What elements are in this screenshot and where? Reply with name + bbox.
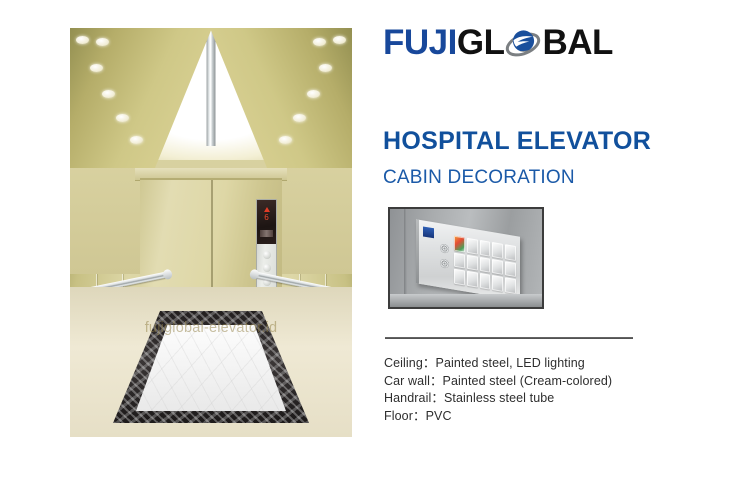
floor-button bbox=[505, 278, 516, 294]
downlight-icon bbox=[319, 64, 332, 72]
downlight-icon bbox=[307, 90, 320, 98]
floor-button bbox=[467, 254, 478, 270]
floor-indicator: 6 bbox=[257, 213, 276, 222]
spec-line-car-wall: Car wall：Painted steel (Cream-colored) bbox=[384, 373, 684, 391]
company-logo: FUJI GL BAL bbox=[383, 22, 613, 62]
floor-button bbox=[467, 271, 478, 287]
up-arrow-icon bbox=[264, 207, 270, 212]
floor-button bbox=[505, 244, 516, 260]
floor-button bbox=[454, 269, 465, 285]
spec-line-ceiling: Ceiling：Painted steel, LED lighting bbox=[384, 355, 684, 373]
page-subtitle: CABIN DECORATION bbox=[383, 166, 575, 190]
braille-icon bbox=[440, 258, 449, 269]
divider bbox=[385, 337, 633, 339]
cabin-floor bbox=[70, 287, 352, 437]
panel-button-grid bbox=[454, 236, 516, 294]
cop-button bbox=[263, 264, 271, 272]
panel-edge bbox=[416, 219, 419, 284]
logo-text-fuji: FUJI bbox=[383, 25, 457, 60]
emergency-button bbox=[454, 236, 465, 252]
downlight-icon bbox=[279, 136, 292, 144]
downlight-icon bbox=[90, 64, 103, 72]
downlight-icon bbox=[293, 114, 306, 122]
floor-button bbox=[467, 238, 478, 254]
speaker-icon bbox=[440, 243, 449, 254]
downlight-icon bbox=[76, 36, 89, 44]
control-panel-thumbnail bbox=[388, 207, 544, 309]
floor-button bbox=[505, 261, 516, 277]
floor-button bbox=[454, 252, 465, 268]
page-title: HOSPITAL ELEVATOR bbox=[383, 126, 651, 156]
floor-button bbox=[492, 242, 503, 258]
brochure-page: 6 fujiglobal-elevator.id FUJI GL bbox=[0, 0, 741, 485]
globe-swoosh-icon bbox=[505, 26, 541, 59]
cop-display: 6 bbox=[257, 200, 276, 244]
specification-list: Ceiling：Painted steel, LED lighting Car … bbox=[384, 355, 684, 425]
led-display-icon bbox=[423, 226, 434, 238]
downlight-icon bbox=[130, 136, 143, 144]
logo-text-bal: BAL bbox=[542, 25, 612, 60]
thumbnail-wall-seam bbox=[404, 209, 407, 307]
thumbnail-skirting bbox=[390, 294, 542, 307]
downlight-icon bbox=[96, 38, 109, 46]
floor-button bbox=[480, 240, 491, 256]
spec-line-handrail: Handrail：Stainless steel tube bbox=[384, 390, 684, 408]
floor-button bbox=[480, 257, 491, 273]
downlight-icon bbox=[116, 114, 129, 122]
cop-sub-display bbox=[260, 230, 273, 237]
ceiling-chrome-strip bbox=[207, 28, 216, 146]
downlight-icon bbox=[313, 38, 326, 46]
downlight-icon bbox=[333, 36, 346, 44]
floor-button bbox=[492, 259, 503, 275]
cop-button bbox=[263, 251, 271, 259]
watermark: fujiglobal-elevator.id bbox=[70, 320, 352, 336]
spec-line-floor: Floor：PVC bbox=[384, 408, 684, 426]
floor-button bbox=[480, 273, 491, 289]
floor-button bbox=[492, 275, 503, 291]
cabin-interior-photo: 6 fujiglobal-elevator.id bbox=[70, 28, 352, 437]
downlight-icon bbox=[102, 90, 115, 98]
logo-text-gl: GL bbox=[457, 25, 505, 60]
operating-panel-faceplate bbox=[416, 219, 520, 300]
